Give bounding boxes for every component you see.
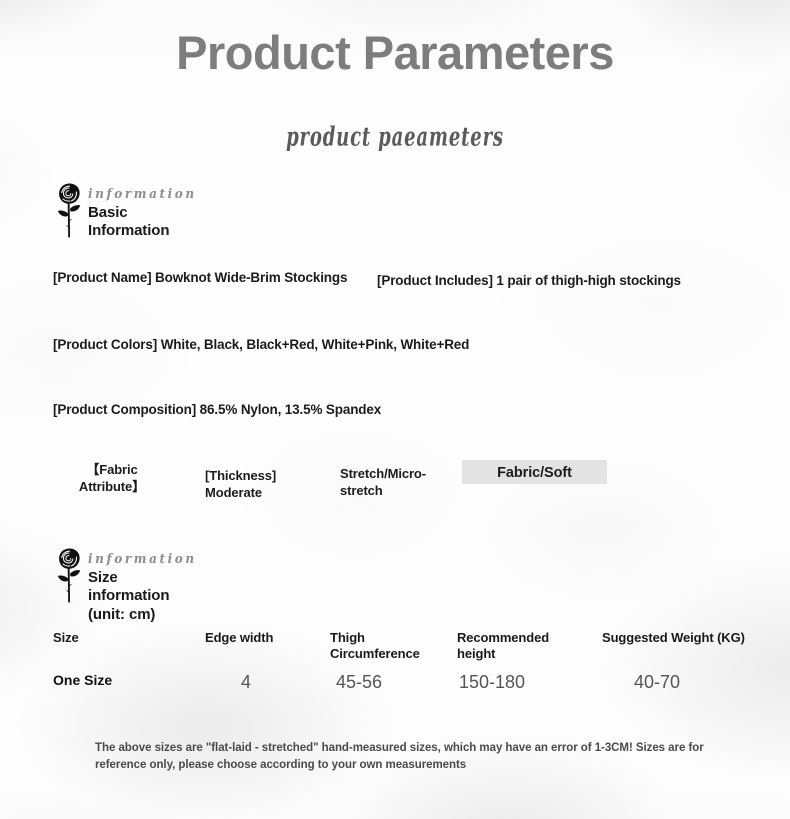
fabric-feel-value: Fabric/Soft — [462, 464, 607, 483]
table-row-cell-edge-width: 4 — [241, 672, 251, 693]
product-colors-value: [Product Colors] White, Black, Black+Red… — [53, 335, 693, 354]
size-table-header-edge-width: Edge width — [205, 630, 273, 646]
table-row-cell-recommended-height: 150-180 — [459, 672, 525, 693]
rose-icon — [52, 547, 86, 607]
table-row-cell-size: One Size — [53, 672, 112, 688]
rose-icon — [52, 182, 86, 242]
size-table-header-thigh-circumference: Thigh Circumference — [330, 630, 420, 661]
page-content: Product Parameters product paeameters — [0, 0, 790, 819]
page-title: Product Parameters — [0, 29, 790, 76]
section-title-basic-information: Basic Information — [88, 204, 169, 241]
size-disclaimer-note: The above sizes are "flat-laid - stretch… — [95, 740, 725, 775]
size-table-header-suggested-weight: Suggested Weight (KG) — [602, 630, 745, 646]
size-table: Size Edge width Thigh Circumference Reco… — [0, 620, 790, 710]
table-row-cell-thigh-circumference: 45-56 — [336, 672, 382, 693]
fabric-attribute-row: 【Fabric Attribute】 [Thickness] Moderate … — [53, 458, 713, 500]
fabric-thickness-value: [Thickness] Moderate — [205, 468, 335, 502]
table-row-cell-suggested-weight: 40-70 — [634, 672, 680, 693]
page-subtitle: product paeameters — [71, 122, 719, 153]
fabric-attribute-label: 【Fabric Attribute】 — [57, 462, 167, 496]
fabric-stretch-value: Stretch/Micro- stretch — [340, 466, 465, 500]
product-parameters-page: Product Parameters product paeameters — [0, 0, 790, 819]
section-kicker-label: information — [88, 186, 197, 201]
size-table-header-recommended-height: Recommended height — [457, 630, 549, 661]
product-composition-value: [Product Composition] 86.5% Nylon, 13.5%… — [53, 400, 693, 419]
section-kicker-label: information — [88, 551, 197, 566]
section-title-size-information: Size information (unit: cm) — [88, 569, 169, 624]
size-table-header-size: Size — [53, 630, 79, 646]
product-name-value: [Product Name] Bowknot Wide-Brim Stockin… — [53, 268, 353, 287]
product-includes-value: [Product Includes] 1 pair of thigh-high … — [377, 271, 757, 290]
